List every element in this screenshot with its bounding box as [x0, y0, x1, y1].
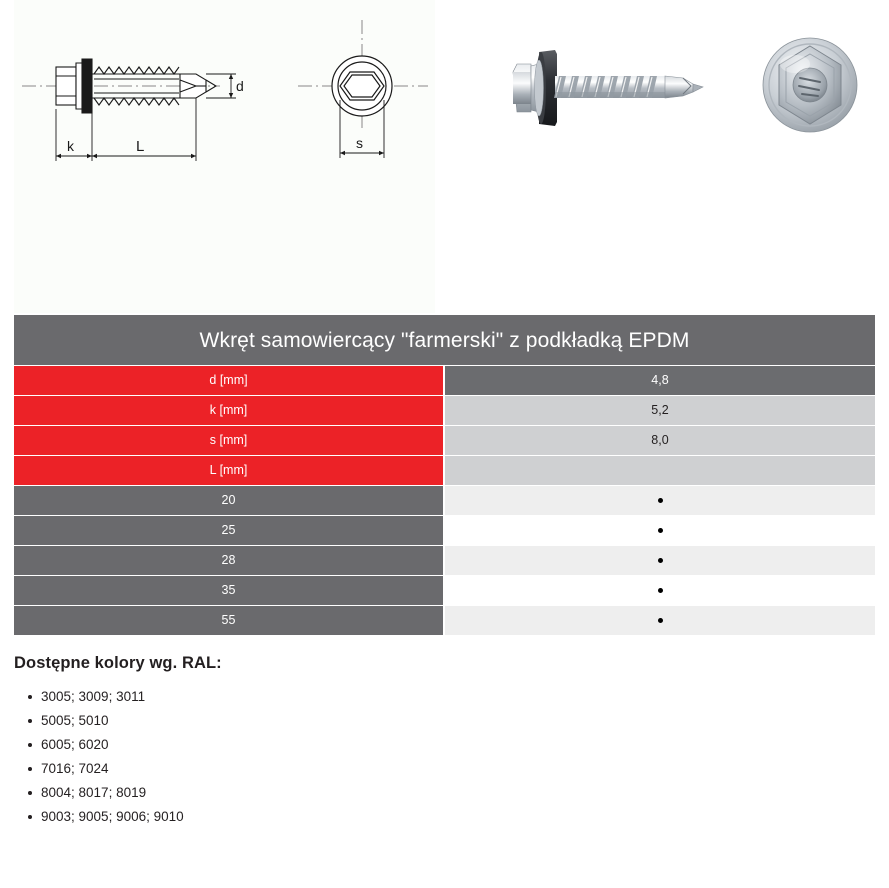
row-label-L: L [mm] [14, 456, 443, 485]
row-label-s: s [mm] [14, 426, 443, 455]
row-value-k: 5,2 [445, 396, 875, 425]
table-row: k [mm] 5,2 [14, 396, 875, 425]
list-item: 5005; 5010 [14, 709, 875, 733]
table-row: 35 [14, 576, 875, 605]
row-label-d: d [mm] [14, 366, 443, 395]
availability-dot-icon [658, 528, 663, 533]
screw-head-top-photo [745, 20, 875, 150]
screw-side-photo [455, 24, 725, 149]
dimension-label-s: s [356, 135, 363, 151]
length-available-20 [445, 486, 875, 515]
availability-dot-icon [658, 618, 663, 623]
table-header-row: Wkręt samowiercący "farmerski" z podkład… [14, 315, 875, 365]
length-label-20: 20 [14, 486, 443, 515]
length-label-35: 35 [14, 576, 443, 605]
product-media-band: d k L [0, 0, 889, 313]
length-label-55: 55 [14, 606, 443, 635]
list-item: 8004; 8017; 8019 [14, 781, 875, 805]
length-available-25 [445, 516, 875, 545]
table-row: 20 [14, 486, 875, 515]
ral-color-list: 3005; 3009; 3011 5005; 5010 6005; 6020 7… [14, 685, 875, 829]
product-title: Wkręt samowiercący "farmerski" z podkład… [14, 315, 875, 365]
table-row: 28 [14, 546, 875, 575]
table-row: 55 [14, 606, 875, 635]
row-value-s: 8,0 [445, 426, 875, 455]
list-item: 9003; 9005; 9006; 9010 [14, 805, 875, 829]
availability-dot-icon [658, 498, 663, 503]
availability-dot-icon [658, 588, 663, 593]
length-available-28 [445, 546, 875, 575]
ral-heading: Dostępne kolory wg. RAL: [14, 654, 875, 673]
specification-table: Wkręt samowiercący "farmerski" z podkład… [0, 315, 889, 635]
dimension-label-k: k [67, 138, 75, 154]
length-label-28: 28 [14, 546, 443, 575]
row-label-k: k [mm] [14, 396, 443, 425]
table-row: s [mm] 8,0 [14, 426, 875, 455]
list-item: 7016; 7024 [14, 757, 875, 781]
dimension-label-L: L [136, 138, 144, 155]
row-value-L [445, 456, 875, 485]
ral-colors-section: Dostępne kolory wg. RAL: 3005; 3009; 301… [0, 636, 889, 829]
list-item: 6005; 6020 [14, 733, 875, 757]
length-available-35 [445, 576, 875, 605]
dimension-label-d: d [236, 78, 244, 94]
availability-dot-icon [658, 558, 663, 563]
table-row: L [mm] [14, 456, 875, 485]
screw-side-view-drawing: d k L [20, 18, 270, 183]
list-item: 3005; 3009; 3011 [14, 685, 875, 709]
table-row: 25 [14, 516, 875, 545]
product-photo-area [435, 0, 889, 313]
length-label-25: 25 [14, 516, 443, 545]
technical-drawing-panel: d k L [14, 0, 435, 313]
length-available-55 [445, 606, 875, 635]
row-value-d: 4,8 [445, 366, 875, 395]
screw-head-end-view-drawing: s [296, 18, 436, 183]
table-row: d [mm] 4,8 [14, 366, 875, 395]
